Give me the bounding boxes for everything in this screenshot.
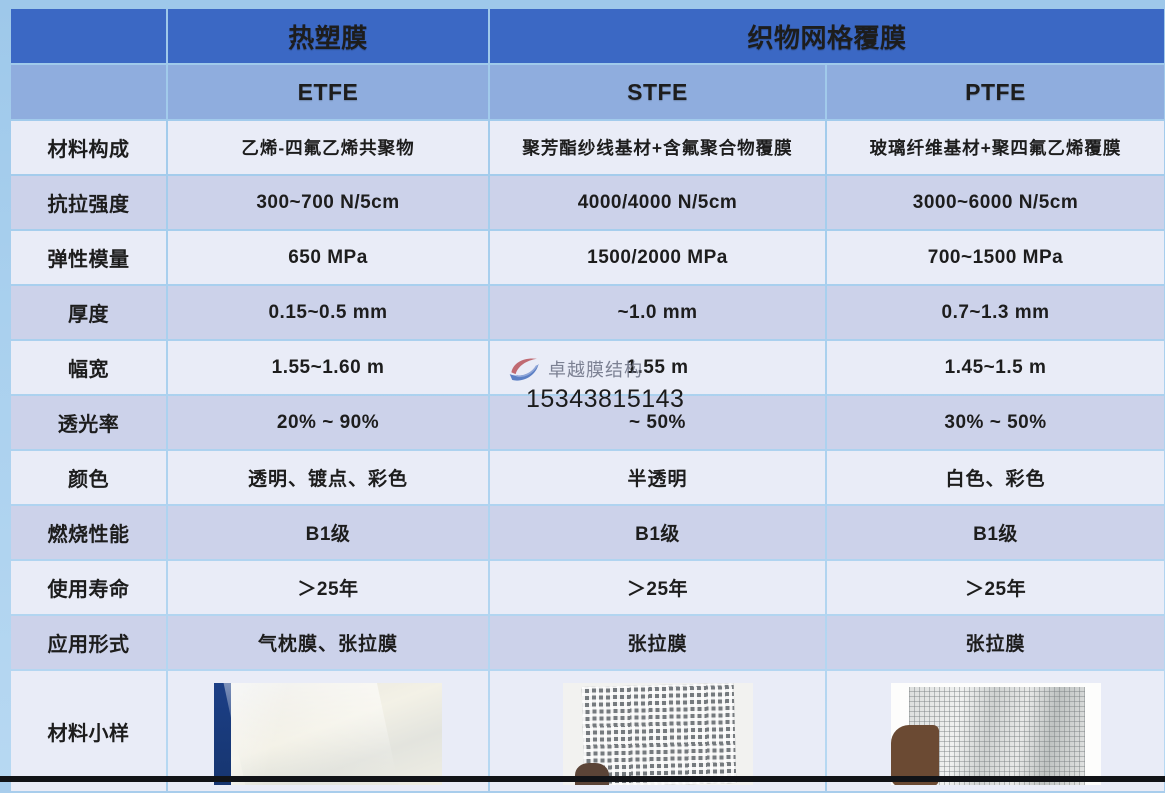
- product-header-stfe: STFE: [490, 65, 825, 119]
- group-header-thermoplastic: 热塑膜: [168, 9, 488, 63]
- cell-stfe-tensile-strength: 4000/4000 N/5cm: [490, 176, 825, 229]
- cell-stfe-material-sample: [490, 671, 825, 791]
- cell-ptfe-material-composition: 玻璃纤维基材+聚四氟乙烯覆膜: [827, 121, 1164, 174]
- cell-stfe-service-life: ＞25年: [490, 561, 825, 614]
- cell-stfe-thickness: ~1.0 mm: [490, 286, 825, 339]
- row-label-color: 颜色: [11, 451, 166, 504]
- sample-box-ptfe: [827, 677, 1164, 785]
- table-row: 透光率 20% ~ 90% ~ 50% 30% ~ 50%: [11, 396, 1164, 449]
- cell-ptfe-material-sample: [827, 671, 1164, 791]
- cell-etfe-material-composition: 乙烯-四氟乙烯共聚物: [168, 121, 488, 174]
- cell-etfe-application-form: 气枕膜、张拉膜: [168, 616, 488, 669]
- cell-etfe-fire-performance: B1级: [168, 506, 488, 559]
- cell-etfe-color: 透明、镀点、彩色: [168, 451, 488, 504]
- row-label-light-transmittance: 透光率: [11, 396, 166, 449]
- table-corner-cell: [11, 9, 166, 63]
- cell-etfe-width: 1.55~1.60 m: [168, 341, 488, 394]
- cell-stfe-light-transmittance: ~ 50%: [490, 396, 825, 449]
- table-row: 抗拉强度 300~700 N/5cm 4000/4000 N/5cm 3000~…: [11, 176, 1164, 229]
- cell-ptfe-service-life: ＞25年: [827, 561, 1164, 614]
- cell-ptfe-color: 白色、彩色: [827, 451, 1164, 504]
- product-header-row: ETFE STFE PTFE: [11, 65, 1164, 119]
- product-header-etfe: ETFE: [168, 65, 488, 119]
- row-label-material-composition: 材料构成: [11, 121, 166, 174]
- cell-ptfe-application-form: 张拉膜: [827, 616, 1164, 669]
- row-label-fire-performance: 燃烧性能: [11, 506, 166, 559]
- membrane-materials-comparison-table: 热塑膜 织物网格覆膜 ETFE STFE PTFE 材料构成 乙烯-四氟乙烯共聚…: [9, 7, 1156, 782]
- ptfe-mesh-roll-photo: [891, 683, 1101, 785]
- row-label-tensile-strength: 抗拉强度: [11, 176, 166, 229]
- product-header-corner-cell: [11, 65, 166, 119]
- cell-etfe-tensile-strength: 300~700 N/5cm: [168, 176, 488, 229]
- cell-stfe-fire-performance: B1级: [490, 506, 825, 559]
- cell-ptfe-light-transmittance: 30% ~ 50%: [827, 396, 1164, 449]
- product-header-ptfe: PTFE: [827, 65, 1164, 119]
- cell-etfe-material-sample: [168, 671, 488, 791]
- table-row: 幅宽 1.55~1.60 m 1.55 m 1.45~1.5 m: [11, 341, 1164, 394]
- stfe-mesh-photo: [563, 683, 753, 785]
- bottom-edge-strip: [0, 776, 1165, 782]
- cell-ptfe-width: 1.45~1.5 m: [827, 341, 1164, 394]
- cell-ptfe-thickness: 0.7~1.3 mm: [827, 286, 1164, 339]
- table-row: 应用形式 气枕膜、张拉膜 张拉膜 张拉膜: [11, 616, 1164, 669]
- table-row: 颜色 透明、镀点、彩色 半透明 白色、彩色: [11, 451, 1164, 504]
- etfe-film-photo: [214, 683, 442, 785]
- cell-stfe-material-composition: 聚芳酯纱线基材+含氟聚合物覆膜: [490, 121, 825, 174]
- row-label-thickness: 厚度: [11, 286, 166, 339]
- row-label-material-sample: 材料小样: [11, 671, 166, 791]
- group-header-row: 热塑膜 织物网格覆膜: [11, 9, 1164, 63]
- cell-stfe-application-form: 张拉膜: [490, 616, 825, 669]
- cell-etfe-elastic-modulus: 650 MPa: [168, 231, 488, 284]
- cell-etfe-light-transmittance: 20% ~ 90%: [168, 396, 488, 449]
- table-row: 弹性模量 650 MPa 1500/2000 MPa 700~1500 MPa: [11, 231, 1164, 284]
- cell-stfe-elastic-modulus: 1500/2000 MPa: [490, 231, 825, 284]
- table-row-material-samples: 材料小样: [11, 671, 1164, 791]
- cell-stfe-width: 1.55 m: [490, 341, 825, 394]
- row-label-service-life: 使用寿命: [11, 561, 166, 614]
- sample-box-stfe: [490, 677, 825, 785]
- spec-table: 热塑膜 织物网格覆膜 ETFE STFE PTFE 材料构成 乙烯-四氟乙烯共聚…: [9, 7, 1165, 793]
- cell-etfe-service-life: ＞25年: [168, 561, 488, 614]
- table-row: 厚度 0.15~0.5 mm ~1.0 mm 0.7~1.3 mm: [11, 286, 1164, 339]
- table-row: 使用寿命 ＞25年 ＞25年 ＞25年: [11, 561, 1164, 614]
- table-row: 燃烧性能 B1级 B1级 B1级: [11, 506, 1164, 559]
- group-header-fabric-mesh: 织物网格覆膜: [490, 9, 1164, 63]
- cell-ptfe-elastic-modulus: 700~1500 MPa: [827, 231, 1164, 284]
- cell-stfe-color: 半透明: [490, 451, 825, 504]
- row-label-elastic-modulus: 弹性模量: [11, 231, 166, 284]
- cell-etfe-thickness: 0.15~0.5 mm: [168, 286, 488, 339]
- row-label-width: 幅宽: [11, 341, 166, 394]
- cell-ptfe-fire-performance: B1级: [827, 506, 1164, 559]
- cell-ptfe-tensile-strength: 3000~6000 N/5cm: [827, 176, 1164, 229]
- sample-box-etfe: [168, 677, 488, 785]
- table-row: 材料构成 乙烯-四氟乙烯共聚物 聚芳酯纱线基材+含氟聚合物覆膜 玻璃纤维基材+聚…: [11, 121, 1164, 174]
- row-label-application-form: 应用形式: [11, 616, 166, 669]
- comparison-table-page: 热塑膜 织物网格覆膜 ETFE STFE PTFE 材料构成 乙烯-四氟乙烯共聚…: [0, 0, 1165, 782]
